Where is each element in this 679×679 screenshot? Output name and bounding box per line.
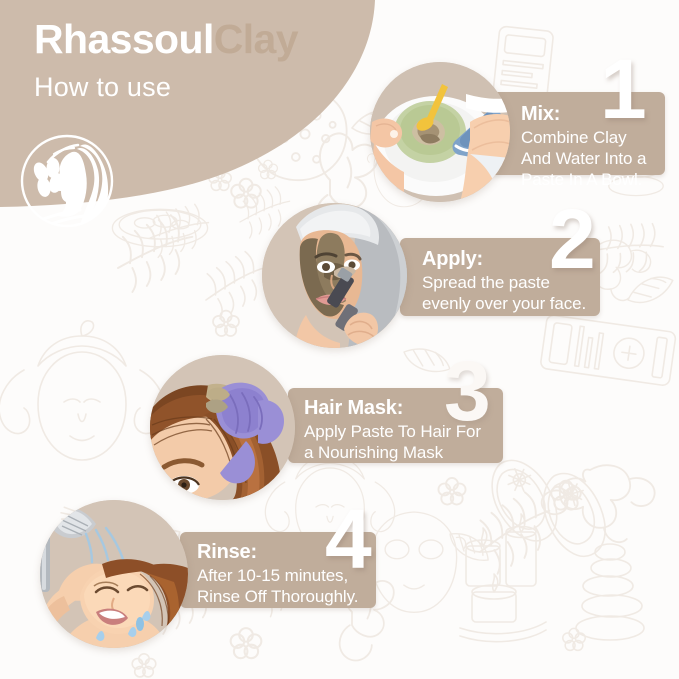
step-4-line-2: Rinse Off Thoroughly. bbox=[197, 586, 364, 607]
brand-logo-icon bbox=[18, 132, 116, 230]
step-3-line-2: a Nourishing Mask bbox=[304, 442, 491, 463]
step-1-number: 1 bbox=[600, 47, 647, 131]
infographic-canvas: RhassoulClay How to use bbox=[0, 0, 679, 679]
step-1-line-2: And Water Into a bbox=[521, 148, 651, 169]
step-1-line-3: Paste In A Bowl. bbox=[521, 169, 651, 190]
step-1-image-mixing-clay bbox=[370, 62, 510, 202]
step-2-line-2: evenly over your face. bbox=[422, 293, 588, 314]
step-4-number: 4 bbox=[325, 497, 372, 581]
step-2-image-applying-mask bbox=[262, 203, 407, 348]
step-3-image-hair-mask bbox=[150, 355, 295, 500]
step-2-number: 2 bbox=[549, 197, 596, 281]
step-3-number: 3 bbox=[444, 349, 491, 433]
step-4-image-rinsing bbox=[40, 500, 188, 648]
